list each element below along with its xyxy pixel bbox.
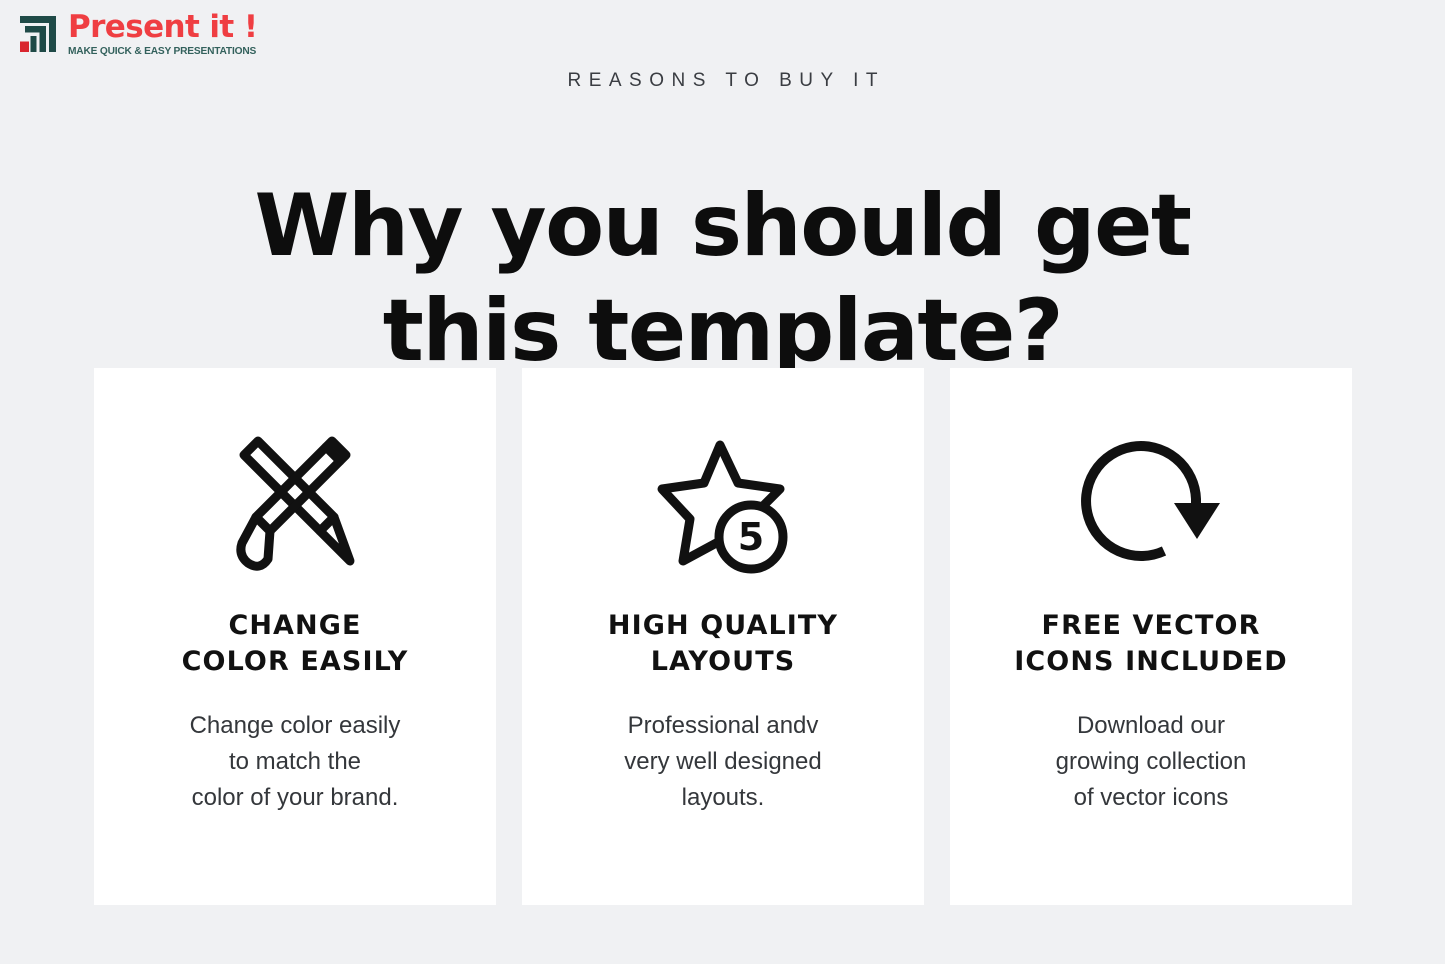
card-heading-line-2: LAYOUTS xyxy=(608,644,838,680)
feature-cards-row: CHANGE COLOR EASILY Change color easily … xyxy=(94,368,1352,905)
card-heading-line-1: HIGH QUALITY xyxy=(608,608,838,644)
card-heading-line-2: COLOR EASILY xyxy=(182,644,409,680)
card-icon-wrap xyxy=(222,430,368,580)
card-heading-line-2: ICONS INCLUDED xyxy=(1014,644,1288,680)
feature-card-high-quality-layouts[interactable]: 5 HIGH QUALITY LAYOUTS Professional andv… xyxy=(522,368,924,905)
brand-wordmark: Present it ! xyxy=(68,11,262,44)
card-body-line-3: of vector icons xyxy=(1056,780,1247,816)
eyebrow-label: REASONS TO BUY IT xyxy=(0,70,1445,92)
card-body-line-2: to match the xyxy=(190,744,401,780)
card-body-line-2: very well designed xyxy=(624,744,821,780)
page-title-line-1: Why you should get xyxy=(0,174,1445,279)
page-title: Why you should get this template? xyxy=(0,174,1445,384)
feature-card-free-vector-icons[interactable]: FREE VECTOR ICONS INCLUDED Download our … xyxy=(950,368,1352,905)
card-heading-line-1: CHANGE xyxy=(182,608,409,644)
card-body-line-1: Change color easily xyxy=(190,708,401,744)
star-badge-value: 5 xyxy=(738,515,764,559)
card-heading-line-1: FREE VECTOR xyxy=(1014,608,1288,644)
brand-logo[interactable]: Present it ! MAKE QUICK & EASY PRESENTAT… xyxy=(14,10,262,58)
card-body-line-1: Professional andv xyxy=(624,708,821,744)
card-body-line-3: layouts. xyxy=(624,780,821,816)
brand-tagline: MAKE QUICK & EASY PRESENTATIONS xyxy=(68,46,256,57)
circular-arrow-refresh-icon xyxy=(1078,431,1224,579)
card-heading: HIGH QUALITY LAYOUTS xyxy=(608,608,838,680)
card-icon-wrap xyxy=(1078,430,1224,580)
card-heading: CHANGE COLOR EASILY xyxy=(182,608,409,680)
card-body-line-1: Download our xyxy=(1056,708,1247,744)
card-icon-wrap: 5 xyxy=(653,430,793,580)
star-rating-five-icon: 5 xyxy=(653,431,793,579)
pencil-paintbrush-crossed-icon xyxy=(222,431,368,579)
card-body-line-3: color of your brand. xyxy=(190,780,401,816)
card-body-line-2: growing collection xyxy=(1056,744,1247,780)
bar-chart-corners-icon xyxy=(14,10,62,58)
card-body: Download our growing collection of vecto… xyxy=(1056,708,1247,816)
feature-card-change-color[interactable]: CHANGE COLOR EASILY Change color easily … xyxy=(94,368,496,905)
card-body: Professional andv very well designed lay… xyxy=(624,708,821,816)
card-heading: FREE VECTOR ICONS INCLUDED xyxy=(1014,608,1288,680)
card-body: Change color easily to match the color o… xyxy=(190,708,401,816)
